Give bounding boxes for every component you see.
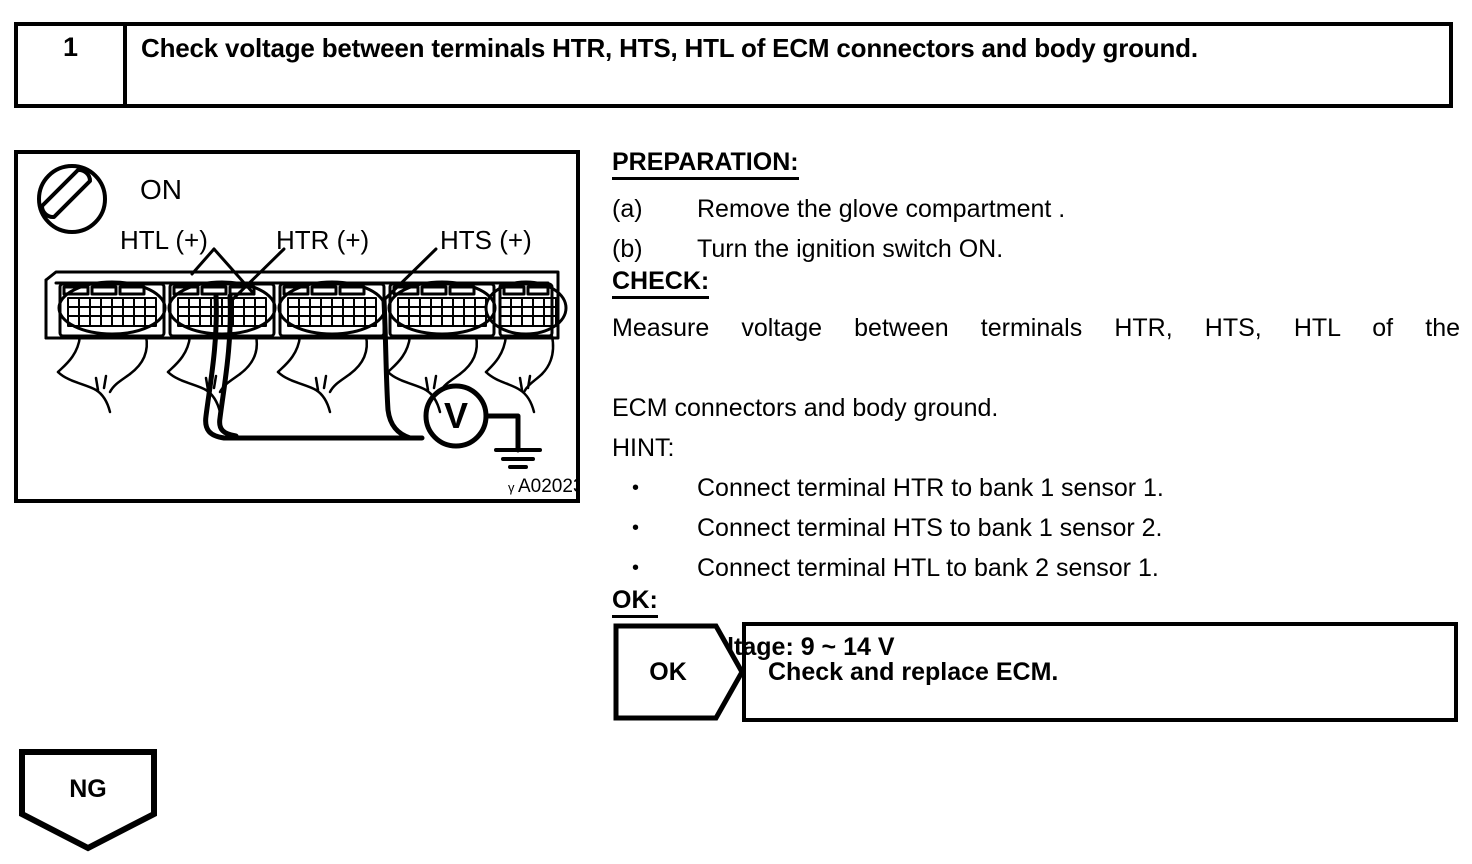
connector-group [58,282,566,412]
step-number-cell: 1 [18,26,127,104]
ecm-connector-diagram: V ON HTL (+) HTR (+) HTS (+) γ A02023 [18,154,576,499]
preparation-step-a: (a) Remove the glove compartment . [612,189,1462,229]
hint-item-3-text: Connect terminal HTL to bank 2 sensor 1. [697,548,1159,588]
terminal-label-htl: HTL (+) [120,225,208,255]
hint-item-2-text: Connect terminal HTS to bank 1 sensor 2. [697,508,1163,548]
preparation-step-a-text: Remove the glove compartment . [697,189,1065,229]
ok-result-row: OK Check and replace ECM. [612,622,1462,722]
ng-result-tag: NG [18,748,158,852]
ignition-state-label: ON [140,174,182,205]
step-header-box: 1 Check voltage between terminals HTR, H… [14,22,1453,108]
terminal-label-htr: HTR (+) [276,225,369,255]
hint-heading: HINT: [612,428,1462,468]
hint-item-3: • Connect terminal HTL to bank 2 sensor … [612,548,1462,588]
ng-tag-label: NG [18,748,158,830]
preparation-heading-row: PREPARATION: [612,150,1462,180]
check-body-line-1-text: Measure voltage between terminals HTR, H… [612,308,1460,388]
hint-item-1-text: Connect terminal HTR to bank 1 sensor 1. [697,468,1164,508]
preparation-step-b: (b) Turn the ignition switch ON. [612,229,1462,269]
hint-item-1: • Connect terminal HTR to bank 1 sensor … [612,468,1462,508]
ok-action-text: Check and replace ECM. [768,658,1058,687]
illustration-panel: V ON HTL (+) HTR (+) HTS (+) γ A02023 [14,150,580,503]
ignition-key-switch-icon [39,166,105,232]
ok-tag-label: OK [612,622,724,722]
step-title-cell: Check voltage between terminals HTR, HTS… [127,26,1449,104]
check-heading: CHECK: [612,269,709,299]
figure-reference: A02023 [518,476,576,497]
ok-result-tag: OK [612,622,746,722]
terminal-label-hts: HTS (+) [440,225,532,255]
hint-item-2: • Connect terminal HTS to bank 1 sensor … [612,508,1462,548]
bullet-icon: • [612,508,697,548]
ok-action-box: Check and replace ECM. [742,622,1458,722]
voltmeter-symbol: V [444,395,468,436]
preparation-heading: PREPARATION: [612,150,799,180]
step-number: 1 [63,34,78,61]
ok-heading-row: OK: [612,588,1462,618]
step-title: Check voltage between terminals HTR, HTS… [141,32,1439,65]
preparation-step-b-text: Turn the ignition switch ON. [697,229,1003,269]
procedure-column: PREPARATION: (a) Remove the glove compar… [612,150,1462,667]
check-body-line-2: ECM connectors and body ground. [612,388,1462,428]
preparation-step-a-label: (a) [612,189,697,229]
ok-heading: OK: [612,588,658,618]
preparation-step-b-label: (b) [612,229,697,269]
check-heading-row: CHECK: [612,269,1462,299]
bullet-icon: • [612,468,697,508]
figure-reference-prefix: γ [508,480,515,495]
check-body-line-1: Measure voltage between terminals HTR, H… [612,308,1460,388]
bullet-icon: • [612,548,697,588]
chassis-ground-icon [496,450,540,467]
